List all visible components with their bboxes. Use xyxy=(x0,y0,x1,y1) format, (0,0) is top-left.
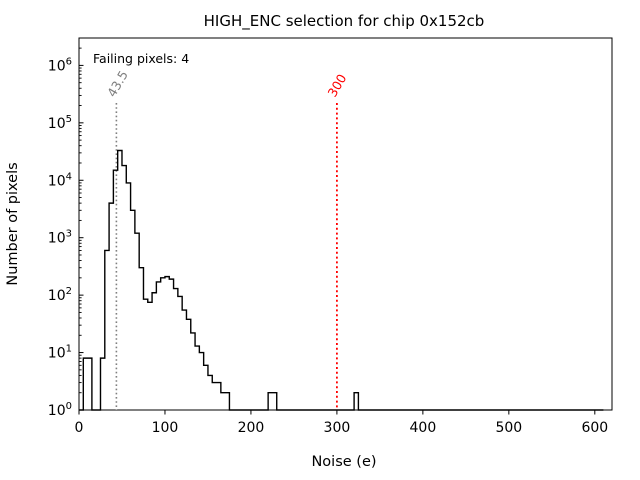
y-tick-label: 101 xyxy=(48,344,72,362)
failing-pixels-annotation: Failing pixels: 4 xyxy=(93,51,189,66)
threshold-line-label: 300 xyxy=(325,71,350,99)
y-tick-label: 104 xyxy=(48,171,72,189)
x-axis-label: Noise (e) xyxy=(311,454,376,470)
y-tick-label: 105 xyxy=(48,114,72,132)
y-axis-label: Number of pixels xyxy=(5,162,21,285)
y-axis-ticks: 100101102103104105106 xyxy=(48,38,84,419)
axis-labels-group: Noise (e) Number of pixels xyxy=(5,162,377,470)
plot-frame xyxy=(79,38,612,410)
chart-title-group: HIGH_ENC selection for chip 0x152cb xyxy=(204,12,485,31)
x-tick-label: 600 xyxy=(581,420,608,436)
x-tick-label: 0 xyxy=(75,420,84,436)
histogram-step-line xyxy=(79,150,603,410)
x-tick-label: 200 xyxy=(238,420,265,436)
histogram-chart: HIGH_ENC selection for chip 0x152cb Nois… xyxy=(0,0,640,480)
mean-line-label: 43.5 xyxy=(104,68,131,100)
x-tick-label: 400 xyxy=(410,420,437,436)
figure-canvas: HIGH_ENC selection for chip 0x152cb Nois… xyxy=(0,0,640,480)
x-tick-label: 300 xyxy=(324,420,351,436)
chart-title: HIGH_ENC selection for chip 0x152cb xyxy=(204,12,485,31)
y-tick-label: 106 xyxy=(48,56,72,74)
y-tick-label: 103 xyxy=(48,229,72,247)
y-tick-label: 100 xyxy=(48,401,72,419)
x-tick-label: 500 xyxy=(495,420,522,436)
x-axis-ticks: 0100200300400500600 xyxy=(75,410,609,436)
x-tick-label: 100 xyxy=(152,420,179,436)
vertical-reference-lines: 43.5300 xyxy=(104,68,349,410)
y-tick-label: 102 xyxy=(48,286,72,304)
plot-border xyxy=(79,38,612,410)
